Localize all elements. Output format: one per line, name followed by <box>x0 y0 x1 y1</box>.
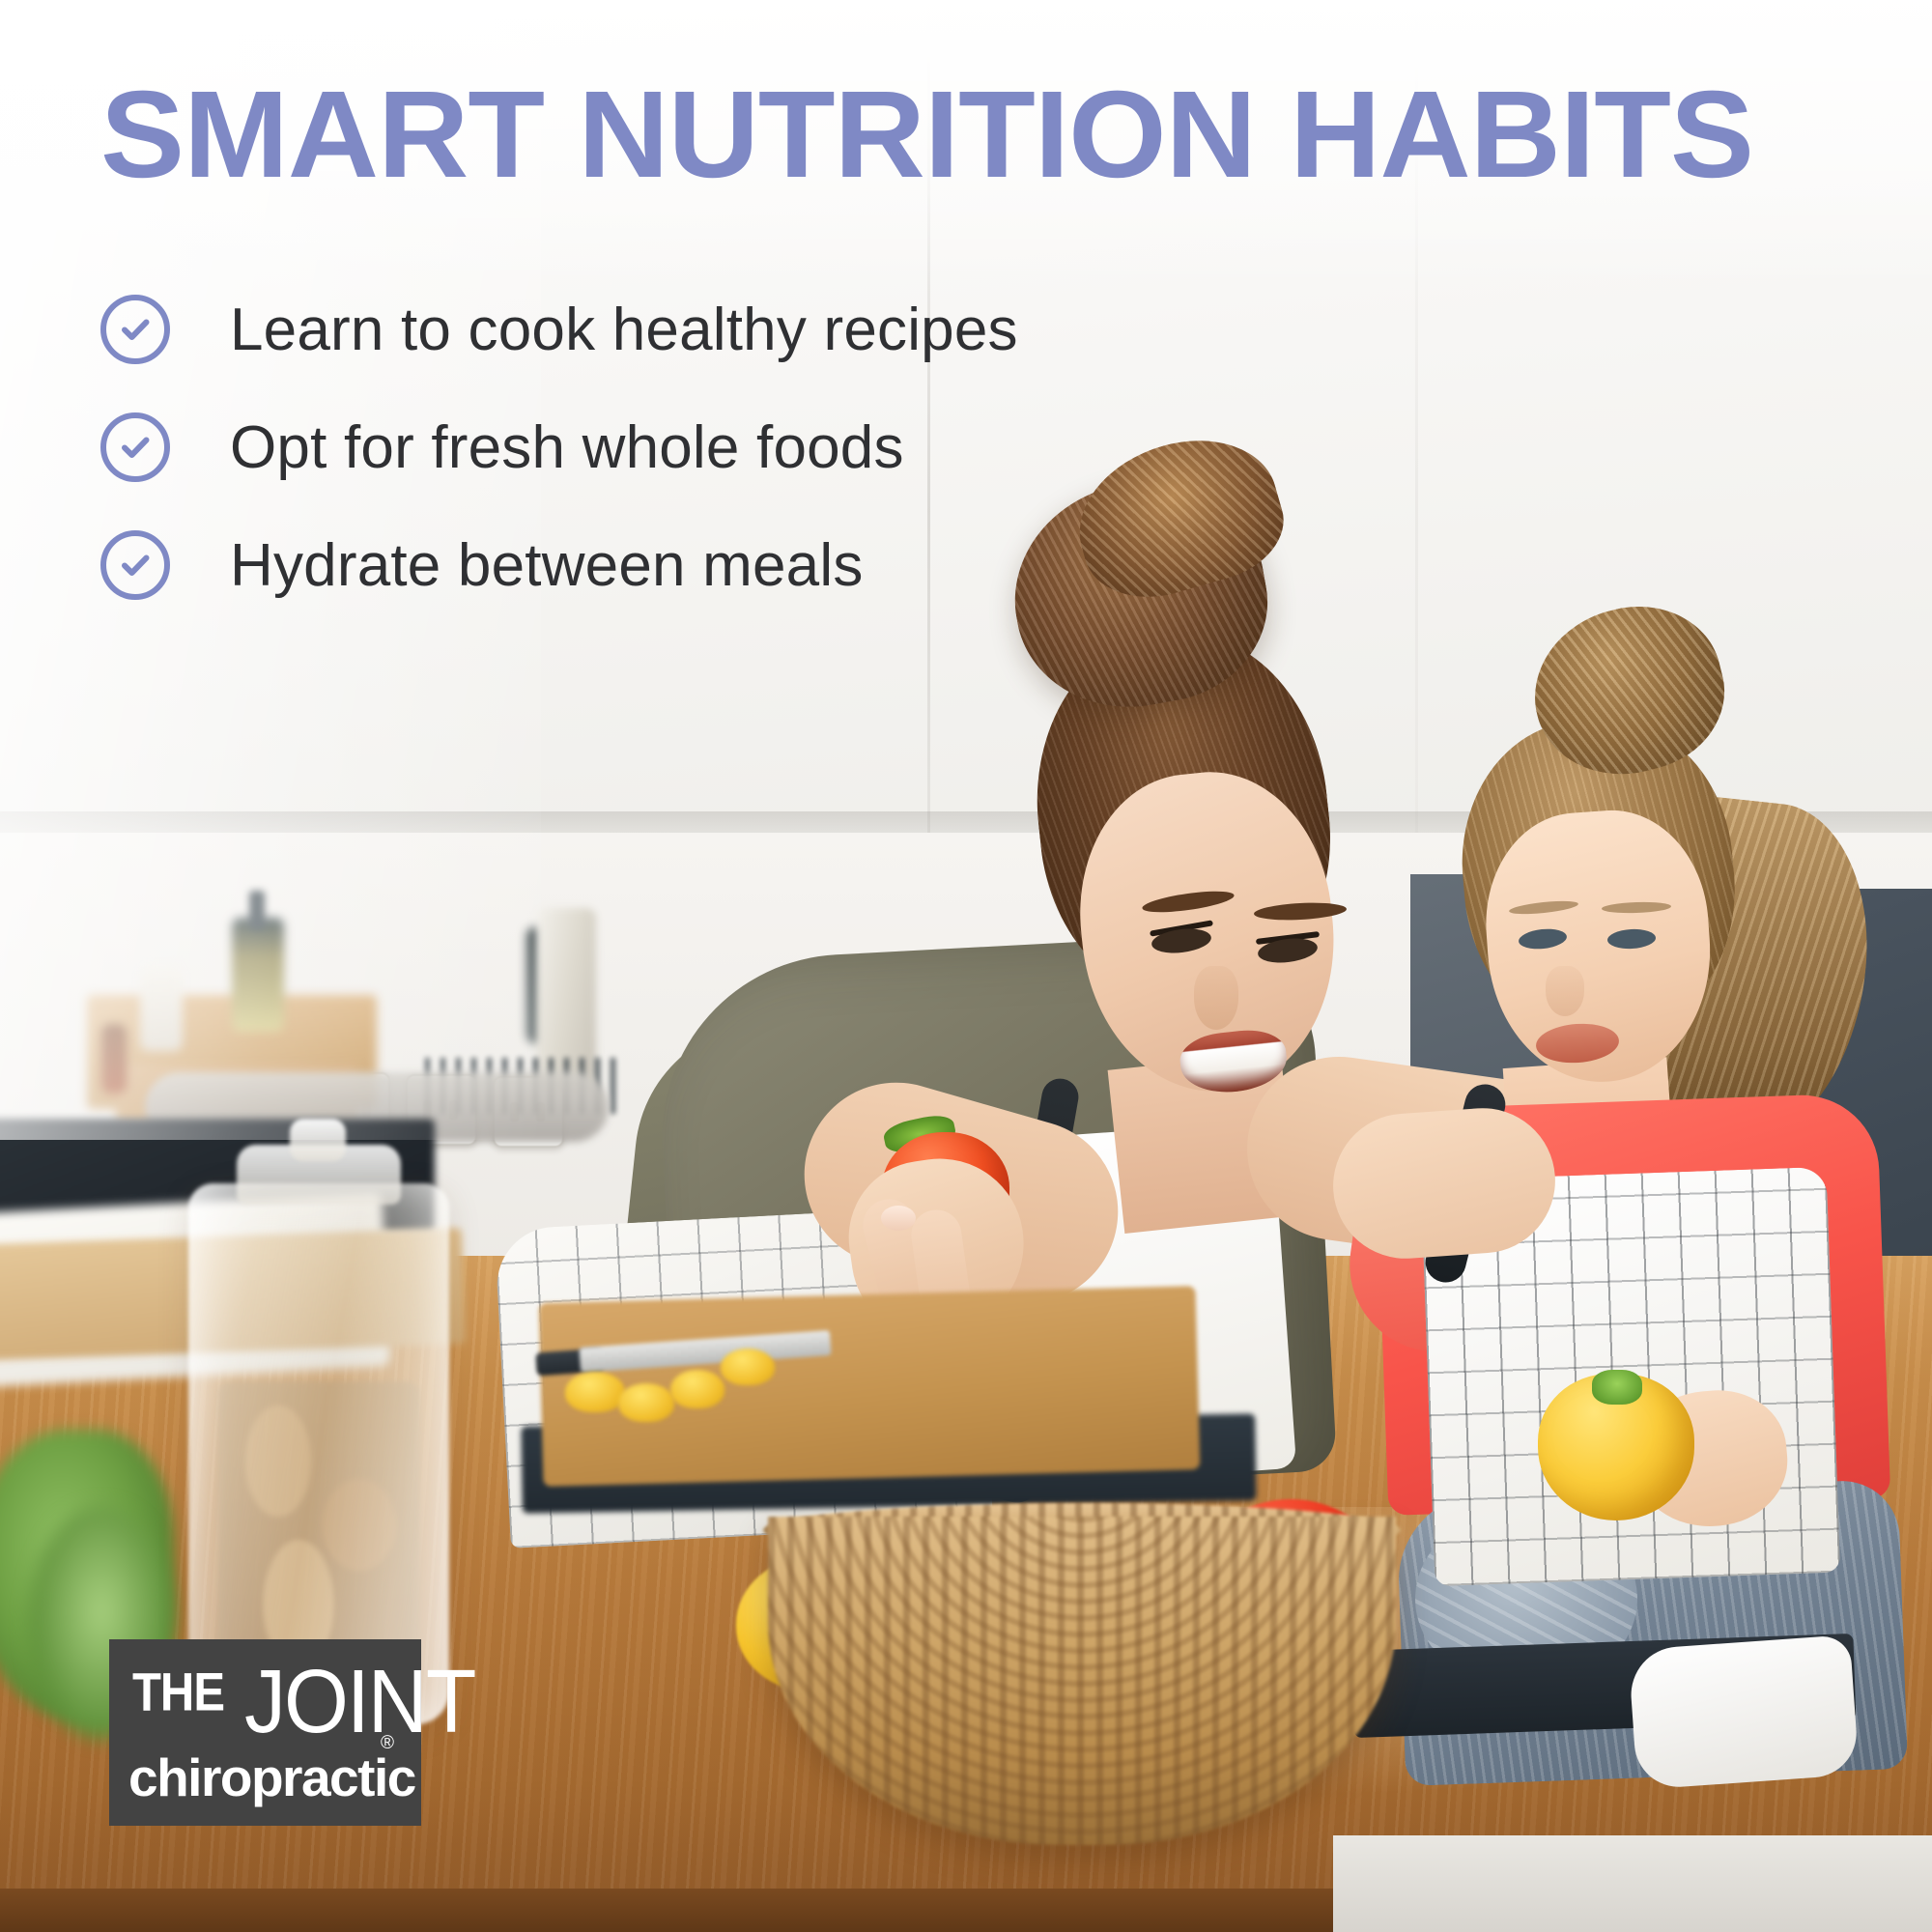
jar-knob <box>290 1119 346 1161</box>
poster-canvas: SMART NUTRITION HABITS Learn to cook hea… <box>0 0 1932 1932</box>
small-bottle <box>101 1024 127 1094</box>
pepper-slice <box>618 1383 674 1422</box>
list-item: Opt for fresh whole foods <box>100 388 1018 506</box>
list-item-label: Hydrate between meals <box>230 531 864 600</box>
yellow-pepper-stem <box>1592 1370 1642 1405</box>
oil-bottle <box>232 918 284 1032</box>
oil-bottle-neck <box>249 891 265 929</box>
check-circle-icon <box>100 530 170 600</box>
pepper-slice <box>721 1349 775 1385</box>
check-circle-icon <box>100 295 170 364</box>
pepper-slice <box>670 1370 724 1408</box>
white-bottle <box>140 966 183 1051</box>
girl-nose <box>1546 966 1584 1016</box>
brand-logo[interactable]: THE JOINT ® chiropractic <box>109 1639 421 1826</box>
mother-nose <box>1194 966 1238 1030</box>
list-item: Learn to cook healthy recipes <box>100 270 1018 388</box>
page-title: SMART NUTRITION HABITS <box>100 73 1884 197</box>
list-item: Hydrate between meals <box>100 506 1018 624</box>
cabinet-front-below-counter <box>1333 1835 1932 1932</box>
list-item-label: Learn to cook healthy recipes <box>230 296 1018 364</box>
logo-the-text: THE <box>132 1666 224 1720</box>
pepper-slice <box>565 1372 625 1412</box>
logo-joint-text: JOINT <box>244 1657 474 1747</box>
girl-white-sock <box>1628 1634 1860 1790</box>
list-item-label: Opt for fresh whole foods <box>230 413 904 482</box>
benefits-list: Learn to cook healthy recipes Opt for fr… <box>100 270 1018 624</box>
check-circle-icon <box>100 412 170 482</box>
mother-fingernail <box>881 1206 916 1231</box>
logo-chiropractic-text: chiropractic <box>128 1751 415 1804</box>
